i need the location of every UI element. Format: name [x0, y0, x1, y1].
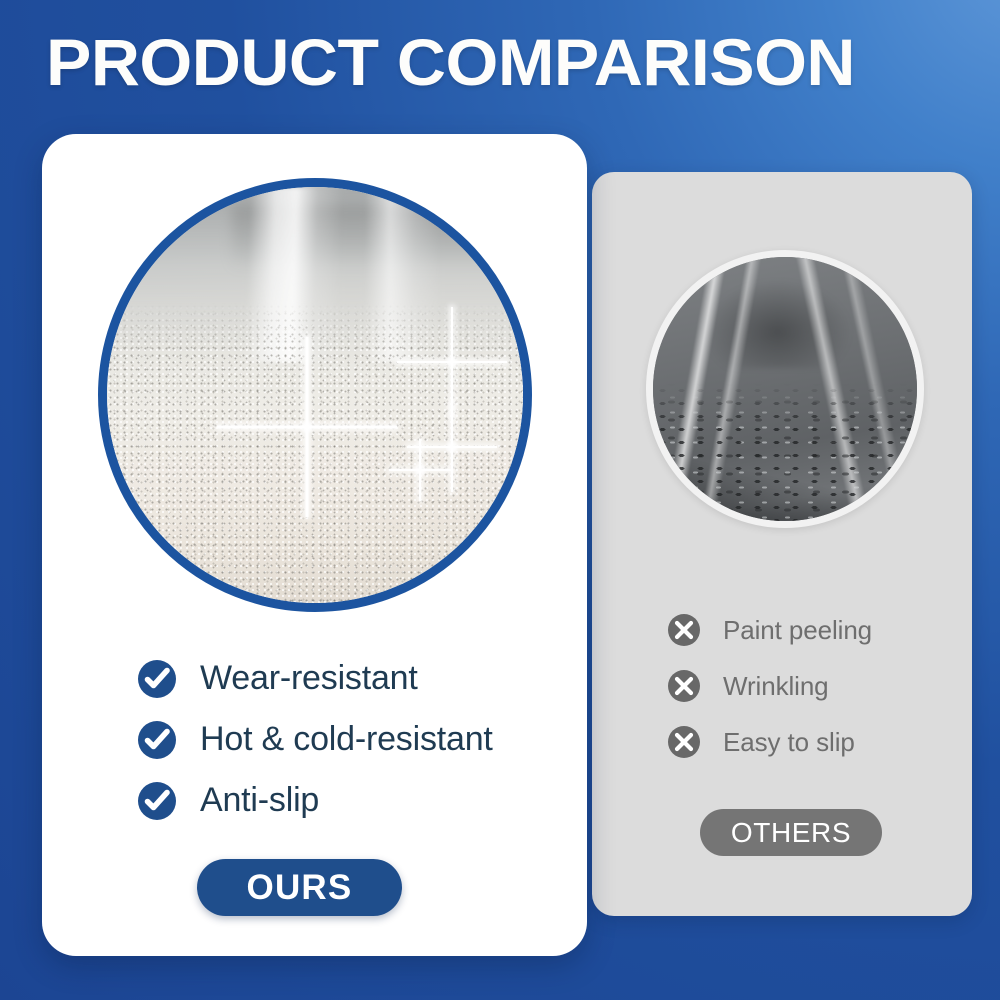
ours-card: Wear-resistant Hot & cold-resistant Anti…: [42, 134, 587, 956]
list-item: Wear-resistant: [138, 648, 568, 709]
x-circle-icon: [668, 614, 700, 646]
page-title: PRODUCT COMPARISON: [46, 27, 994, 97]
list-item-label: Wear-resistant: [200, 659, 418, 698]
ours-badge: OURS: [197, 859, 402, 916]
check-circle-icon: [138, 660, 176, 698]
check-circle-icon: [138, 782, 176, 820]
list-item-label: Wrinkling: [723, 671, 829, 702]
x-circle-icon: [668, 726, 700, 758]
others-floor-pitting: [653, 384, 917, 521]
list-item: Easy to slip: [668, 714, 968, 770]
others-floor-photo: [646, 250, 924, 528]
list-item: Wrinkling: [668, 658, 968, 714]
list-item-label: Paint peeling: [723, 615, 872, 646]
x-circle-icon: [668, 670, 700, 702]
ours-feature-list: Wear-resistant Hot & cold-resistant Anti…: [138, 648, 568, 831]
ours-floor-photo: [98, 178, 532, 612]
others-badge: OTHERS: [700, 809, 882, 856]
comparison-infographic: PRODUCT COMPARISON Paint peeling Wrinkli…: [0, 0, 1000, 1000]
list-item-label: Hot & cold-resistant: [200, 720, 493, 759]
list-item: Hot & cold-resistant: [138, 709, 568, 770]
list-item-label: Anti-slip: [200, 781, 319, 820]
others-drawback-list: Paint peeling Wrinkling Easy to slip: [668, 602, 968, 770]
ours-floor-aggregate-texture: [107, 303, 523, 603]
list-item: Anti-slip: [138, 770, 568, 831]
check-circle-icon: [138, 721, 176, 759]
list-item-label: Easy to slip: [723, 727, 855, 758]
others-card: Paint peeling Wrinkling Easy to slip OTH…: [592, 172, 972, 916]
list-item: Paint peeling: [668, 602, 968, 658]
